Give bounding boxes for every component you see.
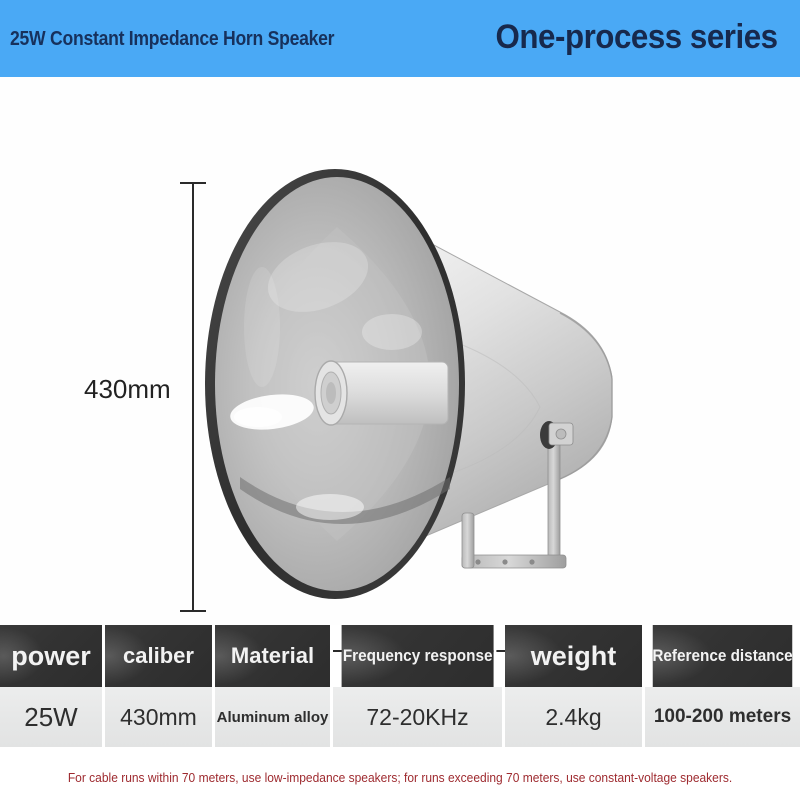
footer-note-bar: For cable runs within 70 meters, use low… — [0, 755, 800, 800]
spec-header-frequency-response: Frequency response — [342, 625, 497, 687]
driver-cylinder — [330, 362, 448, 424]
header-banner: 25W Constant Impedance Horn Speaker One-… — [0, 0, 800, 77]
horn-speaker-illustration — [0, 77, 800, 625]
series-label: One-process series — [496, 18, 778, 57]
bracket-hole — [529, 559, 534, 564]
specification-table: power caliber Material Frequency respons… — [0, 625, 800, 755]
spec-header-power: power — [0, 625, 105, 687]
bracket-hole — [475, 559, 480, 564]
spec-value-row: 25W 430mm Aluminum alloy 72-20KHz 2.4kg … — [0, 687, 800, 747]
spec-value-material: Aluminum alloy — [215, 687, 333, 747]
spec-value-reference-distance: 100-200 meters — [645, 687, 800, 747]
spec-value-frequency-response: 72-20KHz — [333, 687, 505, 747]
height-dimension-line — [192, 182, 194, 612]
spec-header-caliber: caliber — [105, 625, 215, 687]
spec-value-weight: 2.4kg — [505, 687, 645, 747]
footer-note-text: For cable runs within 70 meters, use low… — [68, 771, 732, 785]
bracket-hole — [502, 559, 507, 564]
product-spec-page: 25W Constant Impedance Horn Speaker One-… — [0, 0, 800, 800]
bracket-arm-left — [462, 513, 474, 568]
spec-header-material: Material — [215, 625, 333, 687]
spec-value-caliber: 430mm — [105, 687, 215, 747]
product-image-stage: 430mm 360mm — [0, 77, 800, 625]
spec-header-weight: weight — [505, 625, 645, 687]
spec-header-row: power caliber Material Frequency respons… — [0, 625, 800, 687]
height-dimension-cap-bottom — [180, 610, 206, 612]
spec-value-power: 25W — [0, 687, 105, 747]
height-dimension-cap-top — [180, 182, 206, 184]
height-dimension-label: 430mm — [84, 374, 171, 405]
product-title: 25W Constant Impedance Horn Speaker — [10, 28, 334, 51]
spec-header-reference-distance: Reference distance — [653, 625, 793, 687]
